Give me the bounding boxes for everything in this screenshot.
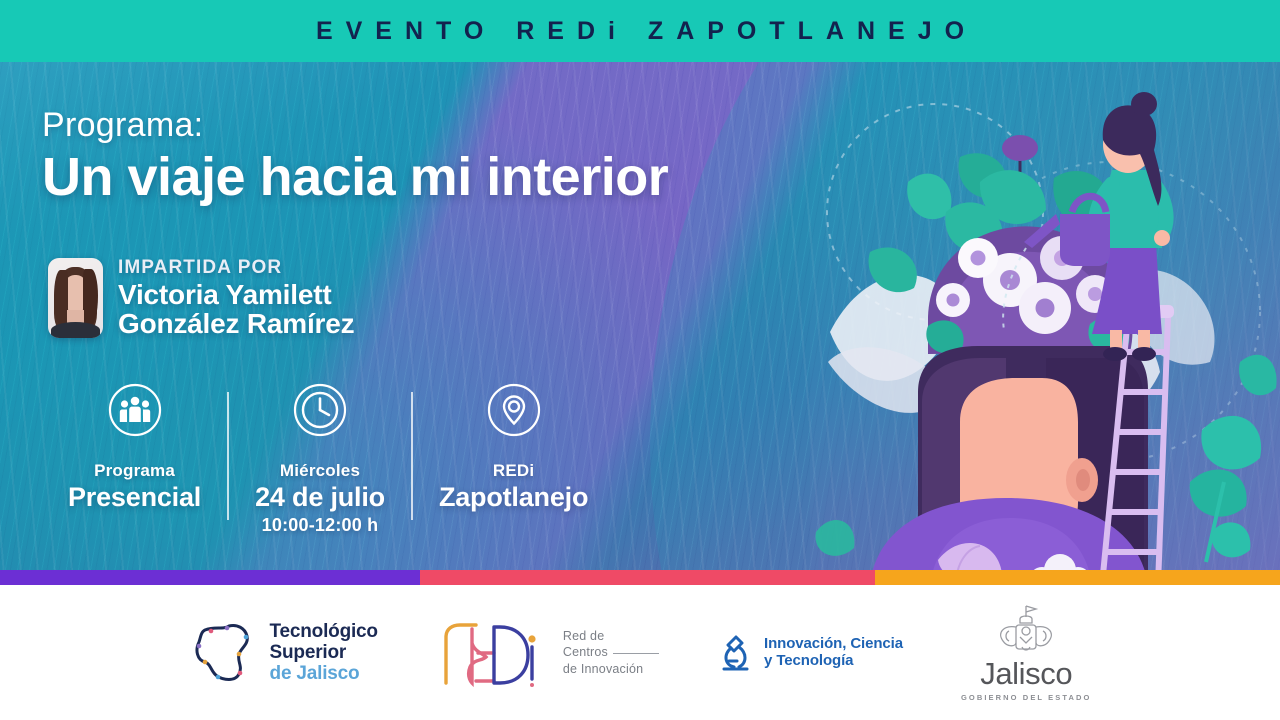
hero-copy: Programa: Un viaje hacia mi interior <box>42 108 668 206</box>
speaker-text: IMPARTIDA POR Victoria Yamilett González… <box>118 258 354 338</box>
jalisco-wordmark: Jalisco <box>980 656 1072 692</box>
hero-illustration <box>810 62 1280 585</box>
redi-line-3: de Innovación <box>563 661 659 677</box>
redi-wordmark-icon <box>436 617 552 689</box>
bar-segment-pink <box>420 570 875 585</box>
tecsj-line-3: de Jalisco <box>270 663 378 684</box>
program-kicker: Programa: <box>42 108 668 144</box>
speaker-label: IMPARTIDA POR <box>118 258 354 278</box>
info-modality-label: Programa <box>94 461 175 481</box>
tecsj-line-2: Superior <box>270 642 378 663</box>
speaker-name-line-2: González Ramírez <box>118 309 354 338</box>
ict-line-2: y Tecnología <box>764 653 903 670</box>
info-venue-label: REDi <box>493 461 534 481</box>
logo-innovacion-ciencia-tecnologia: Innovación, Ciencia y Tecnología <box>717 631 903 675</box>
event-info-row: Programa Presencial Miércoles 24 de juli… <box>42 382 614 536</box>
speaker-block: IMPARTIDA POR Victoria Yamilett González… <box>48 258 354 338</box>
clock-icon <box>292 382 348 443</box>
tecsj-line-1: Tecnológico <box>270 621 378 642</box>
info-column-location: REDi Zapotlanejo <box>413 382 614 513</box>
logo-tecsj-text: Tecnológico Superior de Jalisco <box>270 621 378 685</box>
logo-redi: Red de Centros de Innovación <box>436 617 659 689</box>
speaker-avatar <box>48 258 103 338</box>
info-modality-value: Presencial <box>68 482 201 513</box>
logo-tecnologico-superior-de-jalisco: Tecnológico Superior de Jalisco <box>189 620 378 686</box>
ict-line-1: Innovación, Ciencia <box>764 636 903 653</box>
info-weekday-label: Miércoles <box>280 461 360 481</box>
avatar-shoulders <box>51 322 100 338</box>
hero-section: Programa: Un viaje hacia mi interior IMP… <box>0 62 1280 585</box>
footer-logo-bar: Tecnológico Superior de Jalisco <box>0 585 1280 720</box>
info-column-modality: Programa Presencial <box>42 382 227 513</box>
info-venue-value: Zapotlanejo <box>439 482 588 513</box>
redi-line-2: Centros <box>563 645 608 659</box>
avatar-hair-left <box>54 270 68 326</box>
redi-rule <box>613 653 659 654</box>
top-banner: EVENTO REDi ZAPOTLANEJO <box>0 0 1280 62</box>
logo-ict-text: Innovación, Ciencia y Tecnología <box>764 636 903 670</box>
jalisco-map-dots-icon <box>189 620 259 686</box>
map-pin-icon <box>486 382 542 443</box>
bar-segment-orange <box>875 570 1280 585</box>
logo-redi-text: Red de Centros de Innovación <box>563 628 659 677</box>
event-poster: EVENTO REDi ZAPOTLANEJO <box>0 0 1280 720</box>
speaker-name-line-1: Victoria Yamilett <box>118 280 354 309</box>
jalisco-coat-of-arms-icon <box>989 603 1063 655</box>
microscope-icon <box>717 631 753 675</box>
redi-line-1: Red de <box>563 628 659 644</box>
people-group-icon <box>107 382 163 443</box>
info-time-value: 10:00-12:00 h <box>262 515 379 536</box>
jalisco-subtitle: GOBIERNO DEL ESTADO <box>961 693 1091 702</box>
logo-gobierno-de-jalisco: Jalisco GOBIERNO DEL ESTADO <box>961 603 1091 702</box>
info-date-value: 24 de julio <box>255 482 385 513</box>
bar-segment-purple <box>0 570 420 585</box>
info-column-date: Miércoles 24 de julio 10:00-12:00 h <box>229 382 411 536</box>
top-banner-title: EVENTO REDi ZAPOTLANEJO <box>303 17 977 46</box>
tricolor-divider-bar <box>0 570 1280 585</box>
program-title: Un viaje hacia mi interior <box>42 148 668 206</box>
